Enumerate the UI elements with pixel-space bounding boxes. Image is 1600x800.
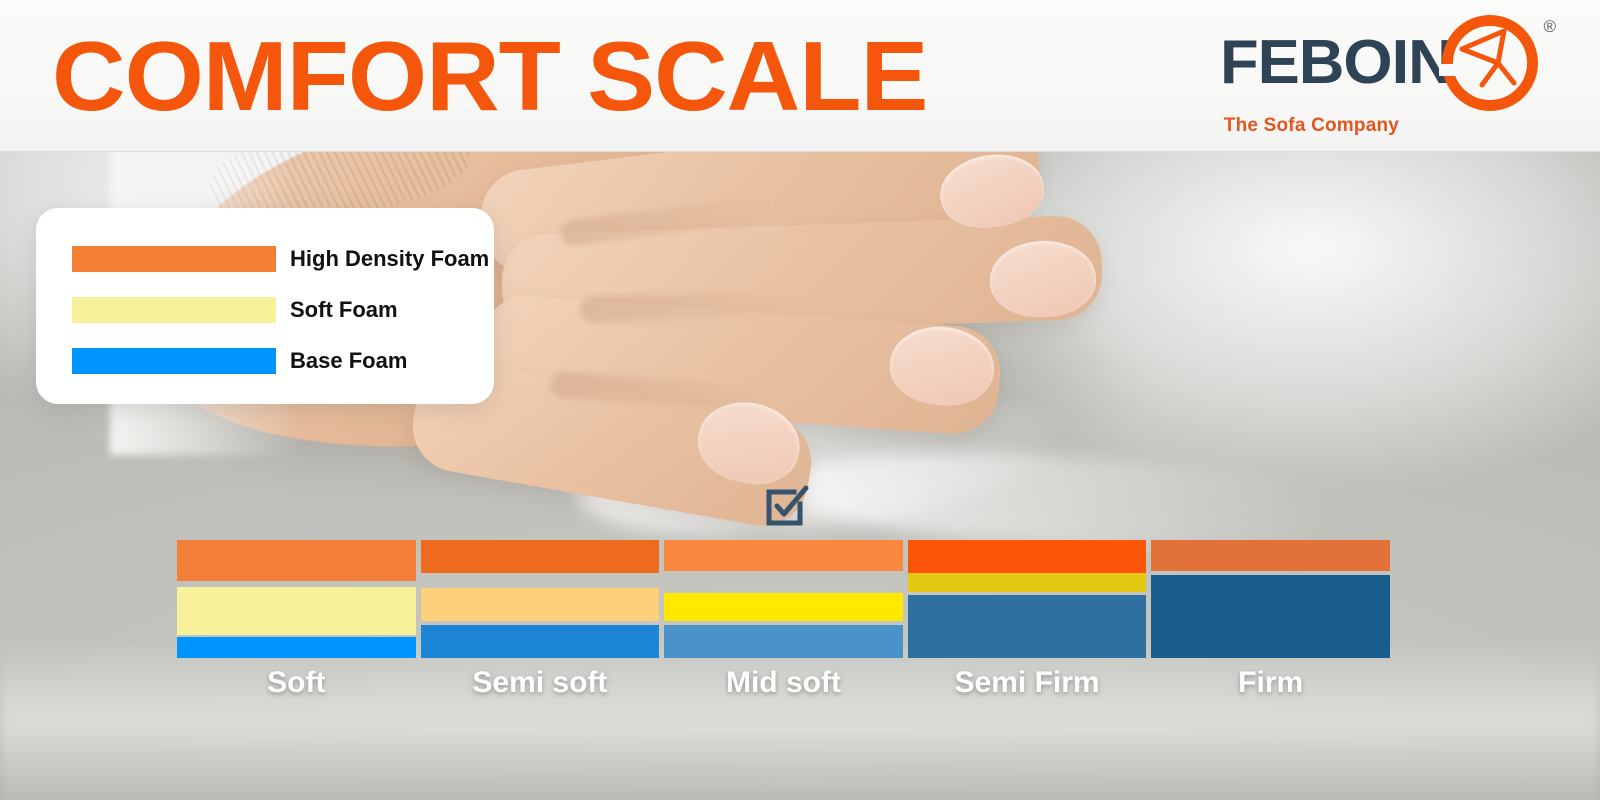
scale-label-firm: Firm: [1151, 666, 1390, 700]
segment-soft-foam: [421, 588, 660, 621]
legend-card: High Density Foam Soft Foam Base Foam: [36, 208, 494, 404]
chair-in-circle-icon: [1442, 15, 1538, 111]
checked-checkbox-icon: [760, 480, 812, 532]
legend-item-high-density-foam: High Density Foam: [72, 246, 494, 272]
legend-item-soft-foam: Soft Foam: [72, 297, 494, 323]
legend-item-base-foam: Base Foam: [72, 348, 494, 374]
poster-stage: COMFORT SCALE ® FEBOIN: [0, 0, 1600, 800]
scale-column-firm[interactable]: Firm: [1151, 540, 1390, 658]
segment-high-density-foam: [421, 540, 660, 573]
scale-label-semi-soft: Semi soft: [421, 666, 660, 700]
segment-base-foam: [1151, 575, 1390, 658]
pillow-bottom-shadow: [0, 728, 1600, 800]
brand-logo: ® FEBOIN The Sofa Co: [1220, 15, 1538, 137]
legend-label-soft-foam: Soft Foam: [290, 297, 398, 323]
comfort-scale-chart: SoftSemi softMid softSemi FirmFirm: [177, 540, 1390, 660]
logo-wordmark: FEBOIN: [1220, 32, 1453, 94]
legend-swatch-high-density-foam: [72, 246, 276, 272]
logo-tagline: The Sofa Company: [1224, 115, 1399, 137]
logo-row: FEBOIN: [1220, 15, 1538, 111]
chair-glyph-icon: [1458, 29, 1522, 95]
segment-high-density-foam: [664, 540, 903, 571]
segment-high-density-foam: [1151, 540, 1390, 571]
scale-label-soft: Soft: [177, 666, 416, 700]
legend-swatch-soft-foam: [72, 297, 276, 323]
scale-column-soft[interactable]: Soft: [177, 540, 416, 658]
legend-label-high-density-foam: High Density Foam: [290, 246, 489, 272]
segment-base-foam: [664, 625, 903, 658]
segment-soft-foam: [664, 593, 903, 621]
segment-soft-foam: [177, 587, 416, 635]
segment-base-foam: [908, 595, 1147, 658]
page-title: COMFORT SCALE: [52, 27, 927, 125]
registered-trademark-icon: ®: [1543, 17, 1556, 37]
scale-column-semi-firm[interactable]: Semi Firm: [908, 540, 1147, 658]
legend-swatch-base-foam: [72, 348, 276, 374]
scale-column-semi-soft[interactable]: Semi soft: [421, 540, 660, 658]
segment-high-density-foam: [908, 540, 1147, 573]
segment-base-foam: [177, 637, 416, 658]
scale-column-mid-soft[interactable]: Mid soft: [664, 540, 903, 658]
header-band: COMFORT SCALE ® FEBOIN: [0, 0, 1600, 152]
segment-high-density-foam: [177, 540, 416, 581]
scale-label-semi-firm: Semi Firm: [908, 666, 1147, 700]
segment-soft-foam: [908, 573, 1147, 592]
legend-label-base-foam: Base Foam: [290, 348, 407, 374]
scale-label-mid-soft: Mid soft: [664, 666, 903, 700]
segment-base-foam: [421, 625, 660, 658]
